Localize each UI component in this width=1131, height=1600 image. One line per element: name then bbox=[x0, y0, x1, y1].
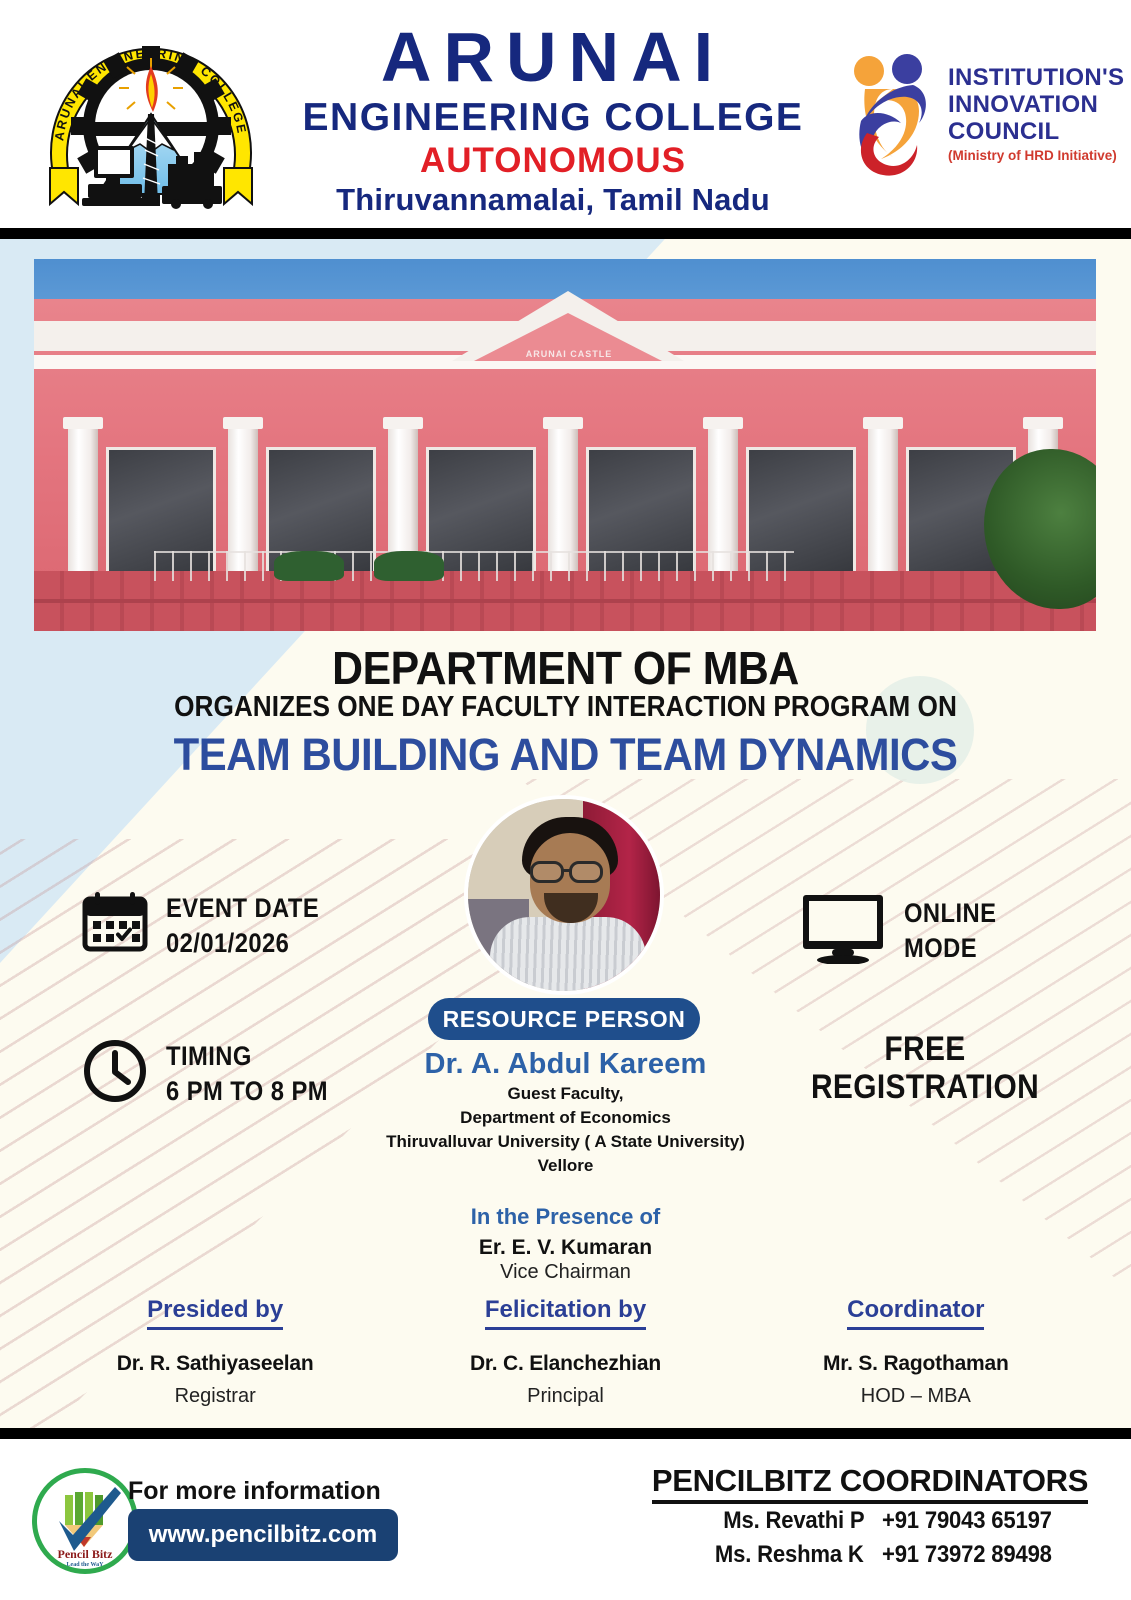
official-column-felicitation: Felicitation by Dr. C. Elanchezhian Prin… bbox=[390, 1296, 740, 1408]
photo-railing bbox=[154, 551, 794, 581]
iic-line-3: COUNCIL bbox=[948, 119, 1124, 146]
iic-ministry-note: (Ministry of HRD Initiative) bbox=[948, 148, 1124, 163]
department-title: DEPARTMENT OF MBA bbox=[40, 641, 1092, 695]
pencilbitz-logo-icon: Pencil Bitz Lead the WaY bbox=[32, 1468, 138, 1574]
website-button[interactable]: www.pencilbitz.com bbox=[128, 1509, 398, 1561]
resource-person-photo bbox=[464, 795, 664, 995]
college-name-sub: ENGINEERING COLLEGE bbox=[268, 98, 838, 137]
portrait-glasses-left bbox=[530, 861, 564, 883]
svg-text:Pencil Bitz: Pencil Bitz bbox=[58, 1547, 114, 1561]
college-name-block: ARUNAI ENGINEERING COLLEGE AUTONOMOUS Th… bbox=[268, 22, 838, 215]
official-role: HOD – MBA bbox=[741, 1385, 1091, 1408]
official-name: Dr. C. Elanchezhian bbox=[390, 1352, 740, 1376]
officials-row: Presided by Dr. R. Sathiyaseelan Registr… bbox=[40, 1296, 1091, 1408]
event-date-text: EVENT DATE 02/01/2026 bbox=[166, 894, 340, 957]
coordinator-row: Ms. Revathi P +91 79043 65197 bbox=[640, 1507, 1100, 1535]
portrait-shirt bbox=[490, 917, 646, 995]
college-autonomous-label: AUTONOMOUS bbox=[268, 143, 838, 178]
official-heading: Coordinator bbox=[847, 1296, 984, 1330]
official-role: Registrar bbox=[40, 1385, 390, 1408]
mode-line-2: MODE bbox=[904, 934, 996, 962]
calendar-icon bbox=[82, 890, 148, 961]
college-crest-icon: ARUNAI ENGINEERING COLLEGE bbox=[36, 18, 266, 213]
rp-detail-1: Guest Faculty, bbox=[0, 1082, 1131, 1106]
official-role: Principal bbox=[390, 1385, 740, 1408]
official-column-presided: Presided by Dr. R. Sathiyaseelan Registr… bbox=[40, 1296, 390, 1408]
portrait-glasses-right bbox=[569, 861, 603, 883]
rp-detail-4: Vellore bbox=[0, 1154, 1131, 1178]
presence-heading: In the Presence of bbox=[0, 1204, 1131, 1230]
more-information-label: For more information bbox=[128, 1477, 381, 1506]
program-topic: TEAM BUILDING AND TEAM DYNAMICS bbox=[40, 729, 1092, 781]
iic-line-1: INSTITUTION'S bbox=[948, 65, 1124, 92]
poster-footer: Pencil Bitz Lead the WaY For more inform… bbox=[0, 1439, 1131, 1600]
coordinators-title: PENCILBITZ COORDINATORS bbox=[640, 1463, 1100, 1504]
official-name: Dr. R. Sathiyaseelan bbox=[40, 1352, 390, 1376]
rp-detail-3: Thiruvalluvar University ( A State Unive… bbox=[0, 1130, 1131, 1154]
coordinators-title-text: PENCILBITZ COORDINATORS bbox=[652, 1463, 1088, 1504]
official-name: Mr. S. Ragothaman bbox=[741, 1352, 1091, 1376]
poster-header: ARUNAI ENGINEERING COLLEGE bbox=[0, 0, 1131, 228]
svg-text:Lead the WaY: Lead the WaY bbox=[67, 1562, 105, 1568]
organizes-subtitle: ORGANIZES ONE DAY FACULTY INTERACTION PR… bbox=[45, 691, 1086, 724]
divider-bottom bbox=[0, 1428, 1131, 1439]
coordinator-name: Ms. Reshma K bbox=[715, 1541, 864, 1569]
coordinator-phone[interactable]: +91 79043 65197 bbox=[882, 1507, 1083, 1535]
resource-person-details: Guest Faculty, Department of Economics T… bbox=[0, 1082, 1131, 1179]
portrait-glasses-bridge bbox=[563, 869, 571, 872]
iic-emblem-icon bbox=[845, 49, 940, 179]
coordinator-phone[interactable]: +91 73972 89498 bbox=[882, 1541, 1083, 1569]
college-location: Thiruvannamalai, Tamil Nadu bbox=[268, 184, 838, 215]
mode-line-1: ONLINE bbox=[904, 899, 996, 927]
photo-building-body: ARUNAI CASTLE bbox=[34, 299, 1096, 577]
official-heading: Presided by bbox=[147, 1296, 283, 1330]
official-heading: Felicitation by bbox=[485, 1296, 646, 1330]
photo-building-caption: ARUNAI CASTLE bbox=[504, 349, 634, 359]
coordinator-row: Ms. Reshma K +91 73972 89498 bbox=[640, 1541, 1100, 1569]
presence-role: Vice Chairman bbox=[0, 1261, 1131, 1284]
presence-name: Er. E. V. Kumaran bbox=[0, 1236, 1131, 1260]
event-date-label: EVENT DATE bbox=[166, 894, 319, 922]
college-name-main: ARUNAI bbox=[268, 22, 838, 92]
photo-shrub bbox=[374, 551, 444, 581]
resource-person-name: Dr. A. Abdul Kareem bbox=[0, 1048, 1131, 1081]
iic-logo: INSTITUTION'S INNOVATION COUNCIL (Minist… bbox=[845, 44, 1105, 184]
photo-plaza-line bbox=[34, 599, 1096, 603]
event-date-value: 02/01/2026 bbox=[166, 929, 319, 957]
event-mode-block: ONLINE MODE bbox=[800, 892, 1009, 969]
iic-text-block: INSTITUTION'S INNOVATION COUNCIL (Minist… bbox=[948, 65, 1124, 163]
divider-top bbox=[0, 228, 1131, 239]
iic-line-2: INNOVATION bbox=[948, 92, 1124, 119]
coordinator-name: Ms. Revathi P bbox=[723, 1507, 864, 1535]
campus-building-photo: ARUNAI CASTLE bbox=[34, 259, 1096, 631]
photo-shrub bbox=[274, 551, 344, 581]
event-date-block: EVENT DATE 02/01/2026 bbox=[82, 890, 340, 961]
event-poster: ARUNAI ENGINEERING COLLEGE bbox=[0, 0, 1131, 1600]
rp-detail-2: Department of Economics bbox=[0, 1106, 1131, 1130]
coordinators-list: Ms. Revathi P +91 79043 65197 Ms. Reshma… bbox=[640, 1507, 1100, 1575]
monitor-icon bbox=[800, 892, 886, 969]
resource-person-badge: RESOURCE PERSON bbox=[428, 998, 700, 1040]
event-mode-text: ONLINE MODE bbox=[904, 899, 1009, 962]
official-column-coordinator: Coordinator Mr. S. Ragothaman HOD – MBA bbox=[741, 1296, 1091, 1408]
